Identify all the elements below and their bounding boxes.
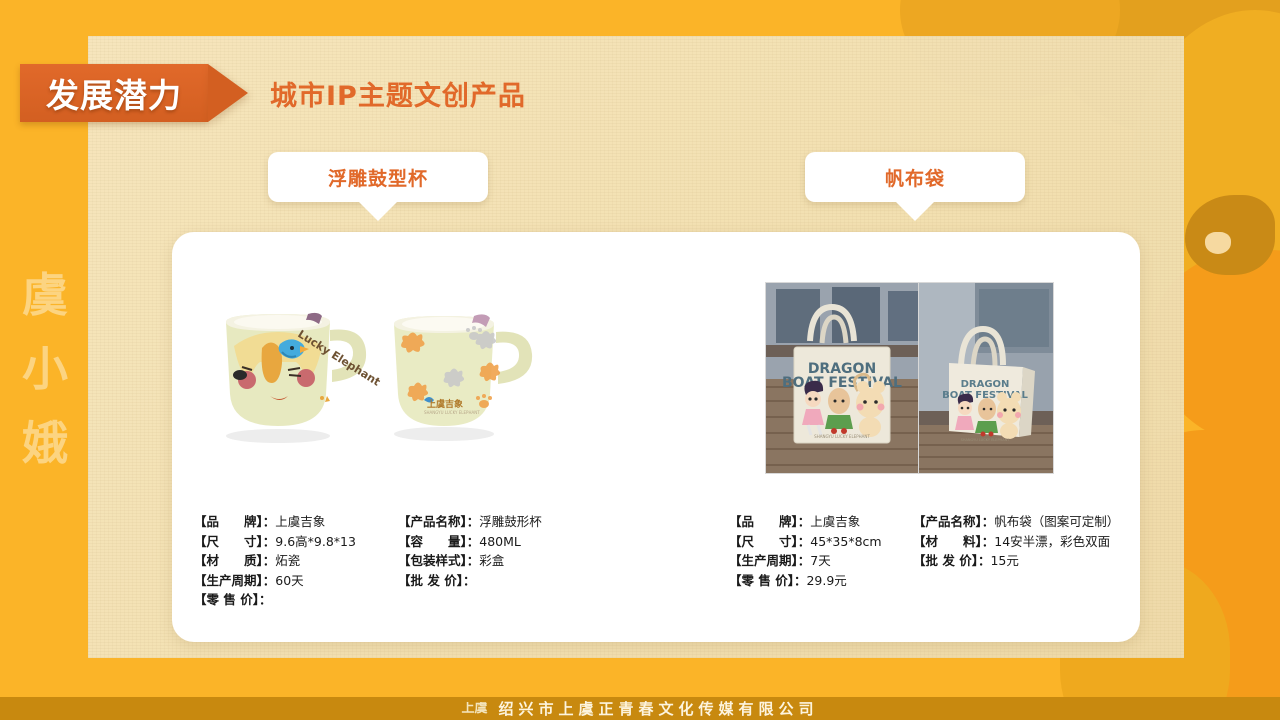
- spec-key: 【批 发 价】：: [398, 573, 475, 588]
- spec-row: 【尺 寸】：45*35*8cm: [729, 532, 882, 552]
- spec-value: 480ML: [479, 534, 521, 549]
- spec-value: 帆布袋（图案可定制）: [994, 514, 1119, 529]
- spec-row: 【品 牌】：上虞吉象: [194, 512, 356, 532]
- spec-value: 9.6高*9.8*13: [275, 534, 356, 549]
- bag-specs-left: 【品 牌】：上虞吉象 【尺 寸】：45*35*8cm 【生产周期】：7天 【零 …: [729, 512, 882, 590]
- spec-key: 【产品名称】：: [398, 514, 479, 529]
- brand-char-2: 小: [14, 332, 76, 406]
- spec-value: 上虞吉象: [275, 514, 325, 529]
- spec-key: 【批 发 价】：: [913, 553, 990, 568]
- spec-row: 【材 质】：炻瓷: [194, 551, 356, 571]
- spec-value: 上虞吉象: [810, 514, 860, 529]
- brand-char-3: 娥: [14, 406, 76, 480]
- spec-key: 【产品名称】：: [913, 514, 994, 529]
- bag-specs-right: 【产品名称】：帆布袋（图案可定制） 【材 料】：14安半漂，彩色双面 【批 发 …: [913, 512, 1119, 571]
- spec-value: 炻瓷: [275, 553, 300, 568]
- header-chip: 发展潜力: [20, 64, 208, 122]
- bag-angle-illustration: DRAGON BOAT FESTIVAL SHANGYU: [919, 283, 1053, 473]
- spec-key: 【零 售 价】：: [194, 592, 271, 607]
- spec-row: 【材 料】：14安半漂，彩色双面: [913, 532, 1119, 552]
- bag-photo-angle[interactable]: DRAGON BOAT FESTIVAL SHANGYU: [918, 282, 1054, 474]
- spec-row: 【产品名称】：浮雕鼓形杯: [398, 512, 542, 532]
- svg-text:SHANGYU LUCKY ELEPHANT: SHANGYU LUCKY ELEPHANT: [961, 438, 1011, 442]
- mug-photo-back[interactable]: 上虞吉象 SHANGYU LUCKY ELEPHANT: [374, 274, 559, 449]
- header-chip-label: 发展潜力: [46, 69, 182, 117]
- spec-value: 60天: [275, 573, 303, 588]
- mug-specs-right: 【产品名称】：浮雕鼓形杯 【容 量】：480ML 【包装样式】：彩盒 【批 发 …: [398, 512, 542, 590]
- spec-key: 【尺 寸】：: [194, 534, 275, 549]
- spec-row: 【容 量】：480ML: [398, 532, 542, 552]
- mug-front-illustration: Lucky Elephant: [200, 274, 395, 449]
- page-title: 城市IP主题文创产品: [270, 74, 526, 113]
- tab-embossed-mug[interactable]: 浮雕鼓型杯: [268, 152, 488, 202]
- bag-front-illustration: DRAGON BOAT FESTIVAL: [766, 283, 918, 473]
- spec-row: 【生产周期】：7天: [729, 551, 882, 571]
- spec-row: 【批 发 价】：15元: [913, 551, 1119, 571]
- spec-value: 29.9元: [806, 573, 846, 588]
- spec-key: 【品 牌】：: [194, 514, 275, 529]
- spec-key: 【包装样式】：: [398, 553, 479, 568]
- spec-key: 【生产周期】：: [194, 573, 275, 588]
- mug-specs-left: 【品 牌】：上虞吉象 【尺 寸】：9.6高*9.8*13 【材 质】：炻瓷 【生…: [194, 512, 356, 610]
- spec-key: 【品 牌】：: [729, 514, 810, 529]
- footer-content: 上虞 绍兴市上虞正青春文化传媒有限公司: [461, 698, 818, 719]
- company-name: 绍兴市上虞正青春文化传媒有限公司: [499, 698, 819, 719]
- spec-value: 14安半漂，彩色双面: [994, 534, 1110, 549]
- tab-canvas-bag[interactable]: 帆布袋: [805, 152, 1025, 202]
- spec-row: 【品 牌】：上虞吉象: [729, 512, 882, 532]
- spec-key: 【材 质】：: [194, 553, 275, 568]
- spec-value: 浮雕鼓形杯: [479, 514, 542, 529]
- brand-char-1: 虞: [14, 258, 76, 332]
- spec-value: 15元: [990, 553, 1018, 568]
- spec-value: 45*35*8cm: [810, 534, 881, 549]
- spec-value: 7天: [810, 553, 830, 568]
- svg-text:SHANGYU LUCKY ELEPHANT: SHANGYU LUCKY ELEPHANT: [814, 434, 870, 439]
- bag-photo-front[interactable]: DRAGON BOAT FESTIVAL: [765, 282, 919, 474]
- spec-key: 【零 售 价】：: [729, 573, 806, 588]
- header-banner: 发展潜力 城市IP主题文创产品: [20, 64, 526, 122]
- bg-blob-heart: [1205, 232, 1231, 254]
- spec-row: 【生产周期】：60天: [194, 571, 356, 591]
- mug-photo-front[interactable]: Lucky Elephant: [200, 274, 395, 449]
- mug-back-illustration: 上虞吉象 SHANGYU LUCKY ELEPHANT: [374, 274, 559, 449]
- spec-key: 【材 料】：: [913, 534, 994, 549]
- spec-row: 【零 售 价】：29.9元: [729, 571, 882, 591]
- spec-key: 【尺 寸】：: [729, 534, 810, 549]
- spec-row: 【零 售 价】：: [194, 590, 356, 610]
- tab-canvas-bag-label: 帆布袋: [885, 164, 945, 191]
- brand-vertical-name: 虞 小 娥: [14, 258, 76, 480]
- spec-row: 【尺 寸】：9.6高*9.8*13: [194, 532, 356, 552]
- spec-key: 【生产周期】：: [729, 553, 810, 568]
- company-logo-icon: 上虞: [461, 702, 487, 716]
- svg-text:SHANGYU LUCKY ELEPHANT: SHANGYU LUCKY ELEPHANT: [424, 410, 480, 415]
- spec-key: 【容 量】：: [398, 534, 479, 549]
- spec-row: 【批 发 价】：: [398, 571, 542, 591]
- bg-blob-eye: [1185, 195, 1275, 275]
- tab-embossed-mug-label: 浮雕鼓型杯: [328, 164, 428, 191]
- footer-bar: 上虞 绍兴市上虞正青春文化传媒有限公司: [0, 697, 1280, 720]
- svg-text:DRAGON: DRAGON: [961, 379, 1010, 390]
- svg-text:上虞吉象: 上虞吉象: [427, 398, 463, 410]
- spec-row: 【产品名称】：帆布袋（图案可定制）: [913, 512, 1119, 532]
- spec-value: 彩盒: [479, 553, 504, 568]
- spec-row: 【包装样式】：彩盒: [398, 551, 542, 571]
